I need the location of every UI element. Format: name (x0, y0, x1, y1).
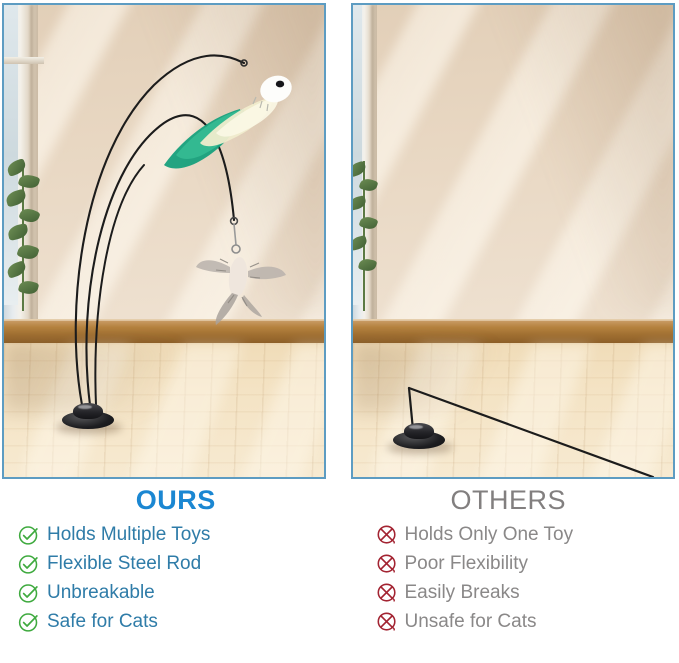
others-photo-panel (351, 3, 675, 479)
flexible-rod (95, 165, 144, 405)
cross-circle-icon (376, 553, 398, 575)
others-column: OTHERS Holds Only One Toy (340, 482, 679, 663)
ours-wand-rods (4, 5, 324, 477)
list-item: Unbreakable (18, 578, 340, 607)
ours-feature-list: Holds Multiple Toys Flexible Steel Rod (12, 520, 340, 636)
list-item: Holds Multiple Toys (18, 520, 340, 549)
toy-clip-wire (234, 224, 236, 245)
check-circle-icon (18, 582, 40, 604)
base-highlight (78, 405, 92, 409)
toy-clip-ring (232, 245, 240, 253)
ours-title: OURS (12, 487, 340, 514)
list-item: Safe for Cats (18, 607, 340, 636)
check-circle-icon (18, 611, 40, 633)
ours-scene (4, 5, 324, 477)
feature-label: Easily Breaks (405, 583, 520, 602)
feature-label: Unbreakable (47, 583, 155, 602)
others-wand-rod (353, 5, 673, 477)
feature-label: Holds Only One Toy (405, 525, 574, 544)
drooping-rod (409, 388, 653, 477)
bird-feather-toy (164, 72, 295, 169)
others-scene (353, 5, 673, 477)
toy-feather-tail (242, 295, 262, 317)
cross-circle-icon (376, 611, 398, 633)
comparison-infographic: OURS Holds Multiple Toys (0, 0, 679, 663)
suction-base (393, 423, 445, 449)
others-feature-list: Holds Only One Toy Poor Flexibility (352, 520, 679, 636)
feature-label: Flexible Steel Rod (47, 554, 201, 573)
cross-circle-icon (376, 524, 398, 546)
toy-eye (276, 81, 284, 88)
suction-base (62, 403, 114, 429)
list-item: Unsafe for Cats (376, 607, 679, 636)
check-circle-icon (18, 524, 40, 546)
photo-panels (0, 0, 679, 482)
others-title: OTHERS (352, 487, 679, 514)
flexible-rod (86, 115, 234, 405)
feature-label: Unsafe for Cats (405, 612, 537, 631)
feature-label: Poor Flexibility (405, 554, 529, 573)
cross-circle-icon (376, 582, 398, 604)
list-item: Easily Breaks (376, 578, 679, 607)
toy-feather-body (227, 256, 249, 298)
ours-column: OURS Holds Multiple Toys (0, 482, 340, 663)
feature-label: Holds Multiple Toys (47, 525, 210, 544)
ours-photo-panel (2, 3, 326, 479)
gray-feather-toy (196, 224, 286, 325)
feature-label: Safe for Cats (47, 612, 158, 631)
base-highlight (409, 425, 423, 429)
toy-feather-tail (216, 293, 238, 325)
list-item: Holds Only One Toy (376, 520, 679, 549)
list-item: Flexible Steel Rod (18, 549, 340, 578)
check-circle-icon (18, 553, 40, 575)
list-item: Poor Flexibility (376, 549, 679, 578)
comparison-section: OURS Holds Multiple Toys (0, 482, 679, 663)
